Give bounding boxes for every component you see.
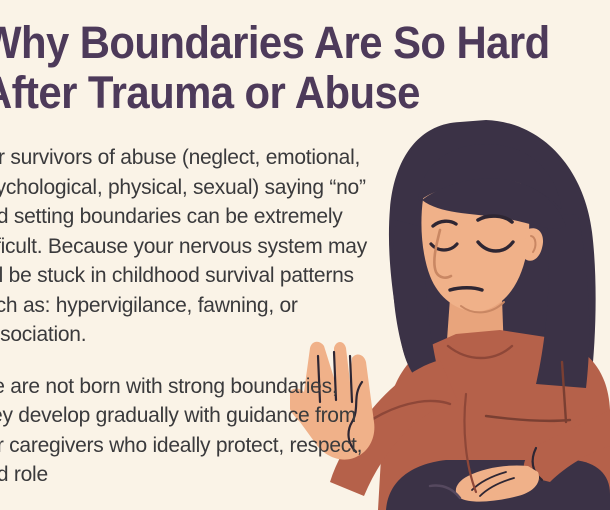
page-title: Why Boundaries Are So Hard After Trauma … [0,18,610,118]
infographic-canvas: Why Boundaries Are So Hard After Trauma … [0,0,610,510]
title-line-1: Why Boundaries Are So Hard [0,18,596,68]
title-line-2: After Trauma or Abuse [0,68,596,118]
body-paragraph-1: For survivors of abuse (neglect, emotion… [0,143,374,350]
body-copy: For survivors of abuse (neglect, emotion… [0,143,374,490]
body-paragraph-2: We are not born with strong boundaries, … [0,372,374,490]
